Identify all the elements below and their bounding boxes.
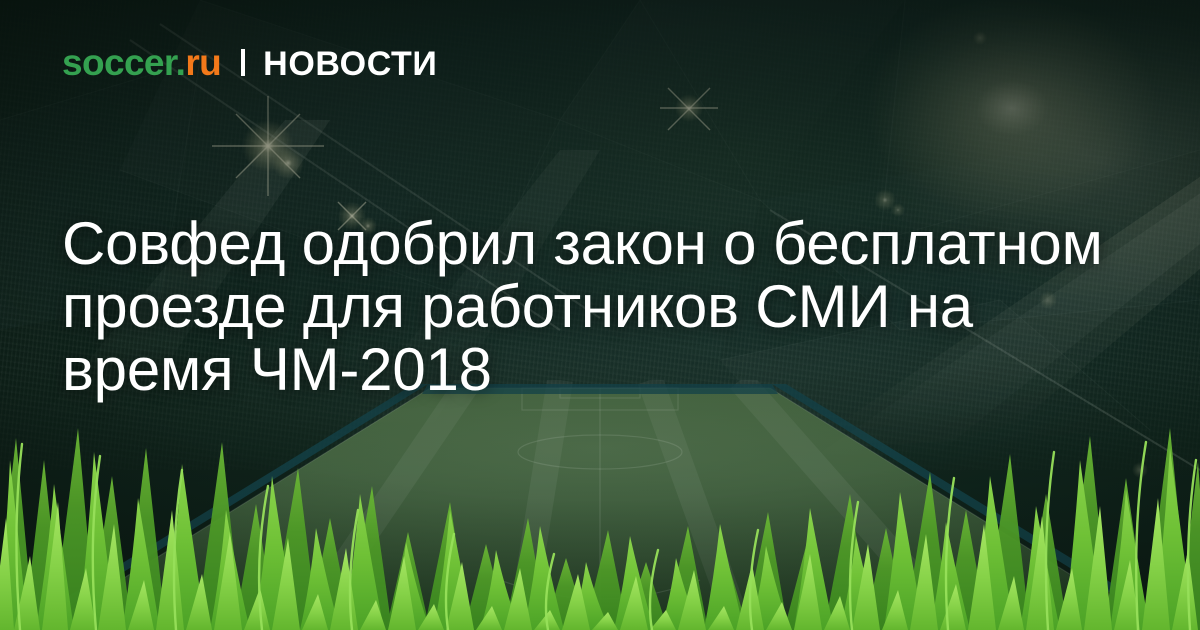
headline: Совфед одобрил закон о бесплатном проезд… xyxy=(62,212,1152,401)
headline-line: проезде для работников СМИ на xyxy=(62,275,1152,338)
site-logo[interactable]: soccer.ru xyxy=(62,44,221,81)
brand-bar[interactable]: soccer.ru НОВОСТИ xyxy=(62,44,437,81)
logo-dot: . xyxy=(176,42,186,83)
logo-tld-ru: ru xyxy=(185,42,221,83)
headline-line: Совфед одобрил закон о бесплатном xyxy=(62,212,1152,275)
logo-word-soccer: soccer xyxy=(62,42,176,83)
news-share-card: soccer.ru НОВОСТИ Совфед одобрил закон о… xyxy=(0,0,1200,630)
brand-separator xyxy=(241,49,245,76)
card-content: soccer.ru НОВОСТИ Совфед одобрил закон о… xyxy=(0,0,1200,630)
section-label-news: НОВОСТИ xyxy=(263,47,437,81)
headline-line: время ЧМ-2018 xyxy=(62,338,1152,401)
